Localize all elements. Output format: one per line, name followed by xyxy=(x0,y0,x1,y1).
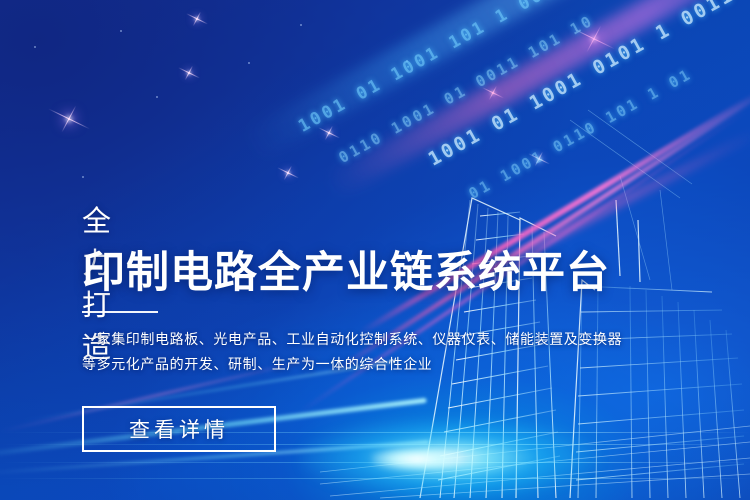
scanline xyxy=(0,478,750,479)
hero-headline: 印制电路全产业链系统平台 xyxy=(82,238,610,300)
star-dot xyxy=(300,24,302,26)
scanline xyxy=(0,462,750,463)
view-details-button[interactable]: 查看详情 xyxy=(82,406,276,452)
sparkle-star xyxy=(68,118,70,120)
sparkle-star xyxy=(188,72,190,74)
sparkle-star xyxy=(593,38,595,40)
cyan-core-glow xyxy=(300,418,600,498)
star-dot xyxy=(156,96,158,98)
cyan-core-highlight xyxy=(372,448,462,470)
hero-banner: 1001 01 1001 101 1 001 0110 0110 1001 01… xyxy=(0,0,750,500)
hero-subtitle-line-2: 等多元化产品的开发、研制、生产为一体的综合性企业 xyxy=(82,352,622,377)
sparkle-star xyxy=(492,92,494,94)
light-band xyxy=(242,0,750,162)
sparkle-star xyxy=(538,158,540,160)
star-dot xyxy=(248,62,250,64)
star-dot xyxy=(120,30,122,32)
binary-ribbon: 1001 01 1001 0101 1 0011 xyxy=(425,0,739,171)
hero-divider xyxy=(82,311,158,313)
hero-subtitle: 一家集印制电路板、光电产品、工业自动化控制系统、仪器仪表、储能装置及变换器 等多… xyxy=(82,327,622,377)
star-dot xyxy=(34,46,36,48)
star-dot xyxy=(406,60,408,62)
binary-ribbon: 0110 1001 01 0011 101 10 xyxy=(336,11,597,167)
sparkle-star xyxy=(328,132,330,134)
binary-ribbon: 1001 01 1001 101 1 001 0110 xyxy=(295,0,617,137)
light-band xyxy=(324,0,750,199)
star-dot xyxy=(82,176,84,178)
sparkle-star xyxy=(287,172,289,174)
hero-subtitle-line-1: 一家集印制电路板、光电产品、工业自动化控制系统、仪器仪表、储能装置及变换器 xyxy=(82,327,622,352)
binary-ribbon: 01 1001 0110 101 1 01 xyxy=(466,65,696,203)
sparkle-star xyxy=(196,18,198,20)
